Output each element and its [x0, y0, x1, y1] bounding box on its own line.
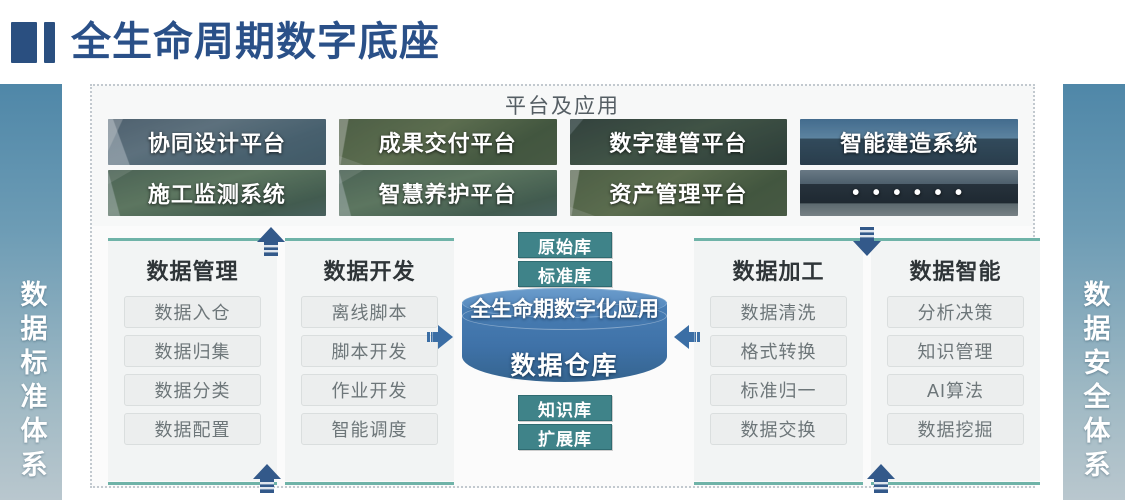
data-column-title: 数据管理: [108, 254, 277, 286]
arrow-up-bottom-right-icon: [864, 462, 898, 496]
platform-card-label: 施工监测系统: [148, 177, 286, 209]
platform-card-grid: 协同设计平台 施工监测系统 成果交付平台: [108, 119, 1018, 217]
data-chip[interactable]: 数据分类: [124, 374, 261, 406]
data-chip[interactable]: 数据清洗: [710, 296, 847, 328]
platform-card-label-ellipsis: • • • • • •: [852, 182, 966, 205]
platform-card-label: 成果交付平台: [379, 126, 517, 158]
data-chip[interactable]: 知识管理: [887, 335, 1024, 367]
diagram-band: 数据标准体系 数据安全体系 平台及应用 协同设计平台: [0, 84, 1125, 500]
data-chip[interactable]: 数据归集: [124, 335, 261, 367]
data-platform-section: 数据管理 数据入仓 数据归集 数据分类 数据配置 数据开发 离线脚本 脚本开发 …: [92, 230, 1033, 486]
db-tag-raw: 原始库: [518, 232, 612, 258]
data-column-title: 数据加工: [694, 254, 863, 286]
title-bar: 全生命周期数字底座: [0, 0, 1125, 84]
data-column-title: 数据开发: [285, 254, 454, 286]
platform-column: 成果交付平台 智慧养护平台: [339, 119, 557, 217]
arrow-down-from-platform-icon: [850, 225, 884, 259]
slide-root: 全生命周期数字底座 数据标准体系 数据安全体系 平台及应用 协同设计平台: [0, 0, 1125, 500]
platform-card[interactable]: 施工监测系统: [108, 170, 326, 216]
cylinder-top-label: 全生命期数字化应用: [462, 293, 667, 323]
data-column-items: 数据清洗 格式转换 标准归一 数据交换: [694, 296, 863, 445]
platform-card-label: 智能建造系统: [840, 126, 978, 158]
platform-card-label: 协同设计平台: [148, 126, 286, 158]
platform-column: 智能建造系统 • • • • • •: [800, 119, 1018, 217]
platform-card-label: 资产管理平台: [609, 177, 747, 209]
data-chip[interactable]: 数据配置: [124, 413, 261, 445]
db-tag-standard: 标准库: [518, 261, 612, 287]
title-marker-wide-icon: [11, 22, 37, 63]
data-chip[interactable]: 分析决策: [887, 296, 1024, 328]
cylinder-bottom-label: 数据仓库: [462, 346, 667, 382]
platform-column: 数字建管平台 资产管理平台: [570, 119, 788, 217]
data-column-items: 数据入仓 数据归集 数据分类 数据配置: [108, 296, 277, 445]
platform-section-title: 平台及应用: [92, 90, 1033, 120]
platform-card[interactable]: • • • • • •: [800, 170, 1018, 216]
data-column-management: 数据管理 数据入仓 数据归集 数据分类 数据配置: [108, 238, 277, 481]
arrow-left-into-warehouse-icon: [671, 322, 701, 352]
platform-card[interactable]: 智慧养护平台: [339, 170, 557, 216]
column-divider: [694, 482, 863, 485]
data-chip[interactable]: 数据挖掘: [887, 413, 1024, 445]
arrow-up-to-platform-icon: [254, 225, 288, 259]
data-warehouse-center: 原始库 标准库: [434, 230, 692, 486]
data-warehouse-cylinder-icon: 全生命期数字化应用 数据仓库: [462, 288, 667, 393]
platform-card[interactable]: 成果交付平台: [339, 119, 557, 165]
platform-card[interactable]: 智能建造系统: [800, 119, 1018, 165]
data-column-intelligence: 数据智能 分析决策 知识管理 AI算法 数据挖掘: [871, 238, 1040, 481]
arrow-right-into-warehouse-icon: [426, 322, 456, 352]
left-rail-data-standards: 数据标准体系: [0, 84, 62, 500]
platform-column: 协同设计平台 施工监测系统: [108, 119, 326, 217]
title-marker-narrow-icon: [44, 22, 55, 63]
right-rail-data-security: 数据安全体系: [1063, 84, 1125, 500]
data-chip[interactable]: 数据交换: [710, 413, 847, 445]
data-chip[interactable]: AI算法: [887, 374, 1024, 406]
data-column-items: 分析决策 知识管理 AI算法 数据挖掘: [871, 296, 1040, 445]
data-column-items: 离线脚本 脚本开发 作业开发 智能调度: [285, 296, 454, 445]
platform-card-label: 数字建管平台: [609, 126, 747, 158]
title-marker-group: [11, 22, 55, 63]
db-tag-extension: 扩展库: [518, 424, 612, 450]
right-rail-label: 数据安全体系: [1081, 280, 1108, 500]
platform-section: 平台及应用 协同设计平台 施工监测系统: [92, 86, 1033, 226]
left-rail-label: 数据标准体系: [18, 280, 45, 500]
platform-card-label: 智慧养护平台: [379, 177, 517, 209]
column-divider: [285, 482, 454, 485]
arrow-up-bottom-left-icon: [250, 462, 284, 496]
data-column-development: 数据开发 离线脚本 脚本开发 作业开发 智能调度: [285, 238, 454, 481]
data-chip[interactable]: 格式转换: [710, 335, 847, 367]
data-chip[interactable]: 数据入仓: [124, 296, 261, 328]
db-tag-knowledge: 知识库: [518, 395, 612, 421]
data-chip[interactable]: 智能调度: [301, 413, 438, 445]
data-column-title: 数据智能: [871, 254, 1040, 286]
data-column-processing: 数据加工 数据清洗 格式转换 标准归一 数据交换: [694, 238, 863, 481]
platform-card[interactable]: 协同设计平台: [108, 119, 326, 165]
page-title: 全生命周期数字底座: [71, 22, 440, 62]
data-chip[interactable]: 标准归一: [710, 374, 847, 406]
data-chip[interactable]: 作业开发: [301, 374, 438, 406]
platform-card[interactable]: 数字建管平台: [570, 119, 788, 165]
data-chip[interactable]: 离线脚本: [301, 296, 438, 328]
platform-card[interactable]: 资产管理平台: [570, 170, 788, 216]
data-chip[interactable]: 脚本开发: [301, 335, 438, 367]
